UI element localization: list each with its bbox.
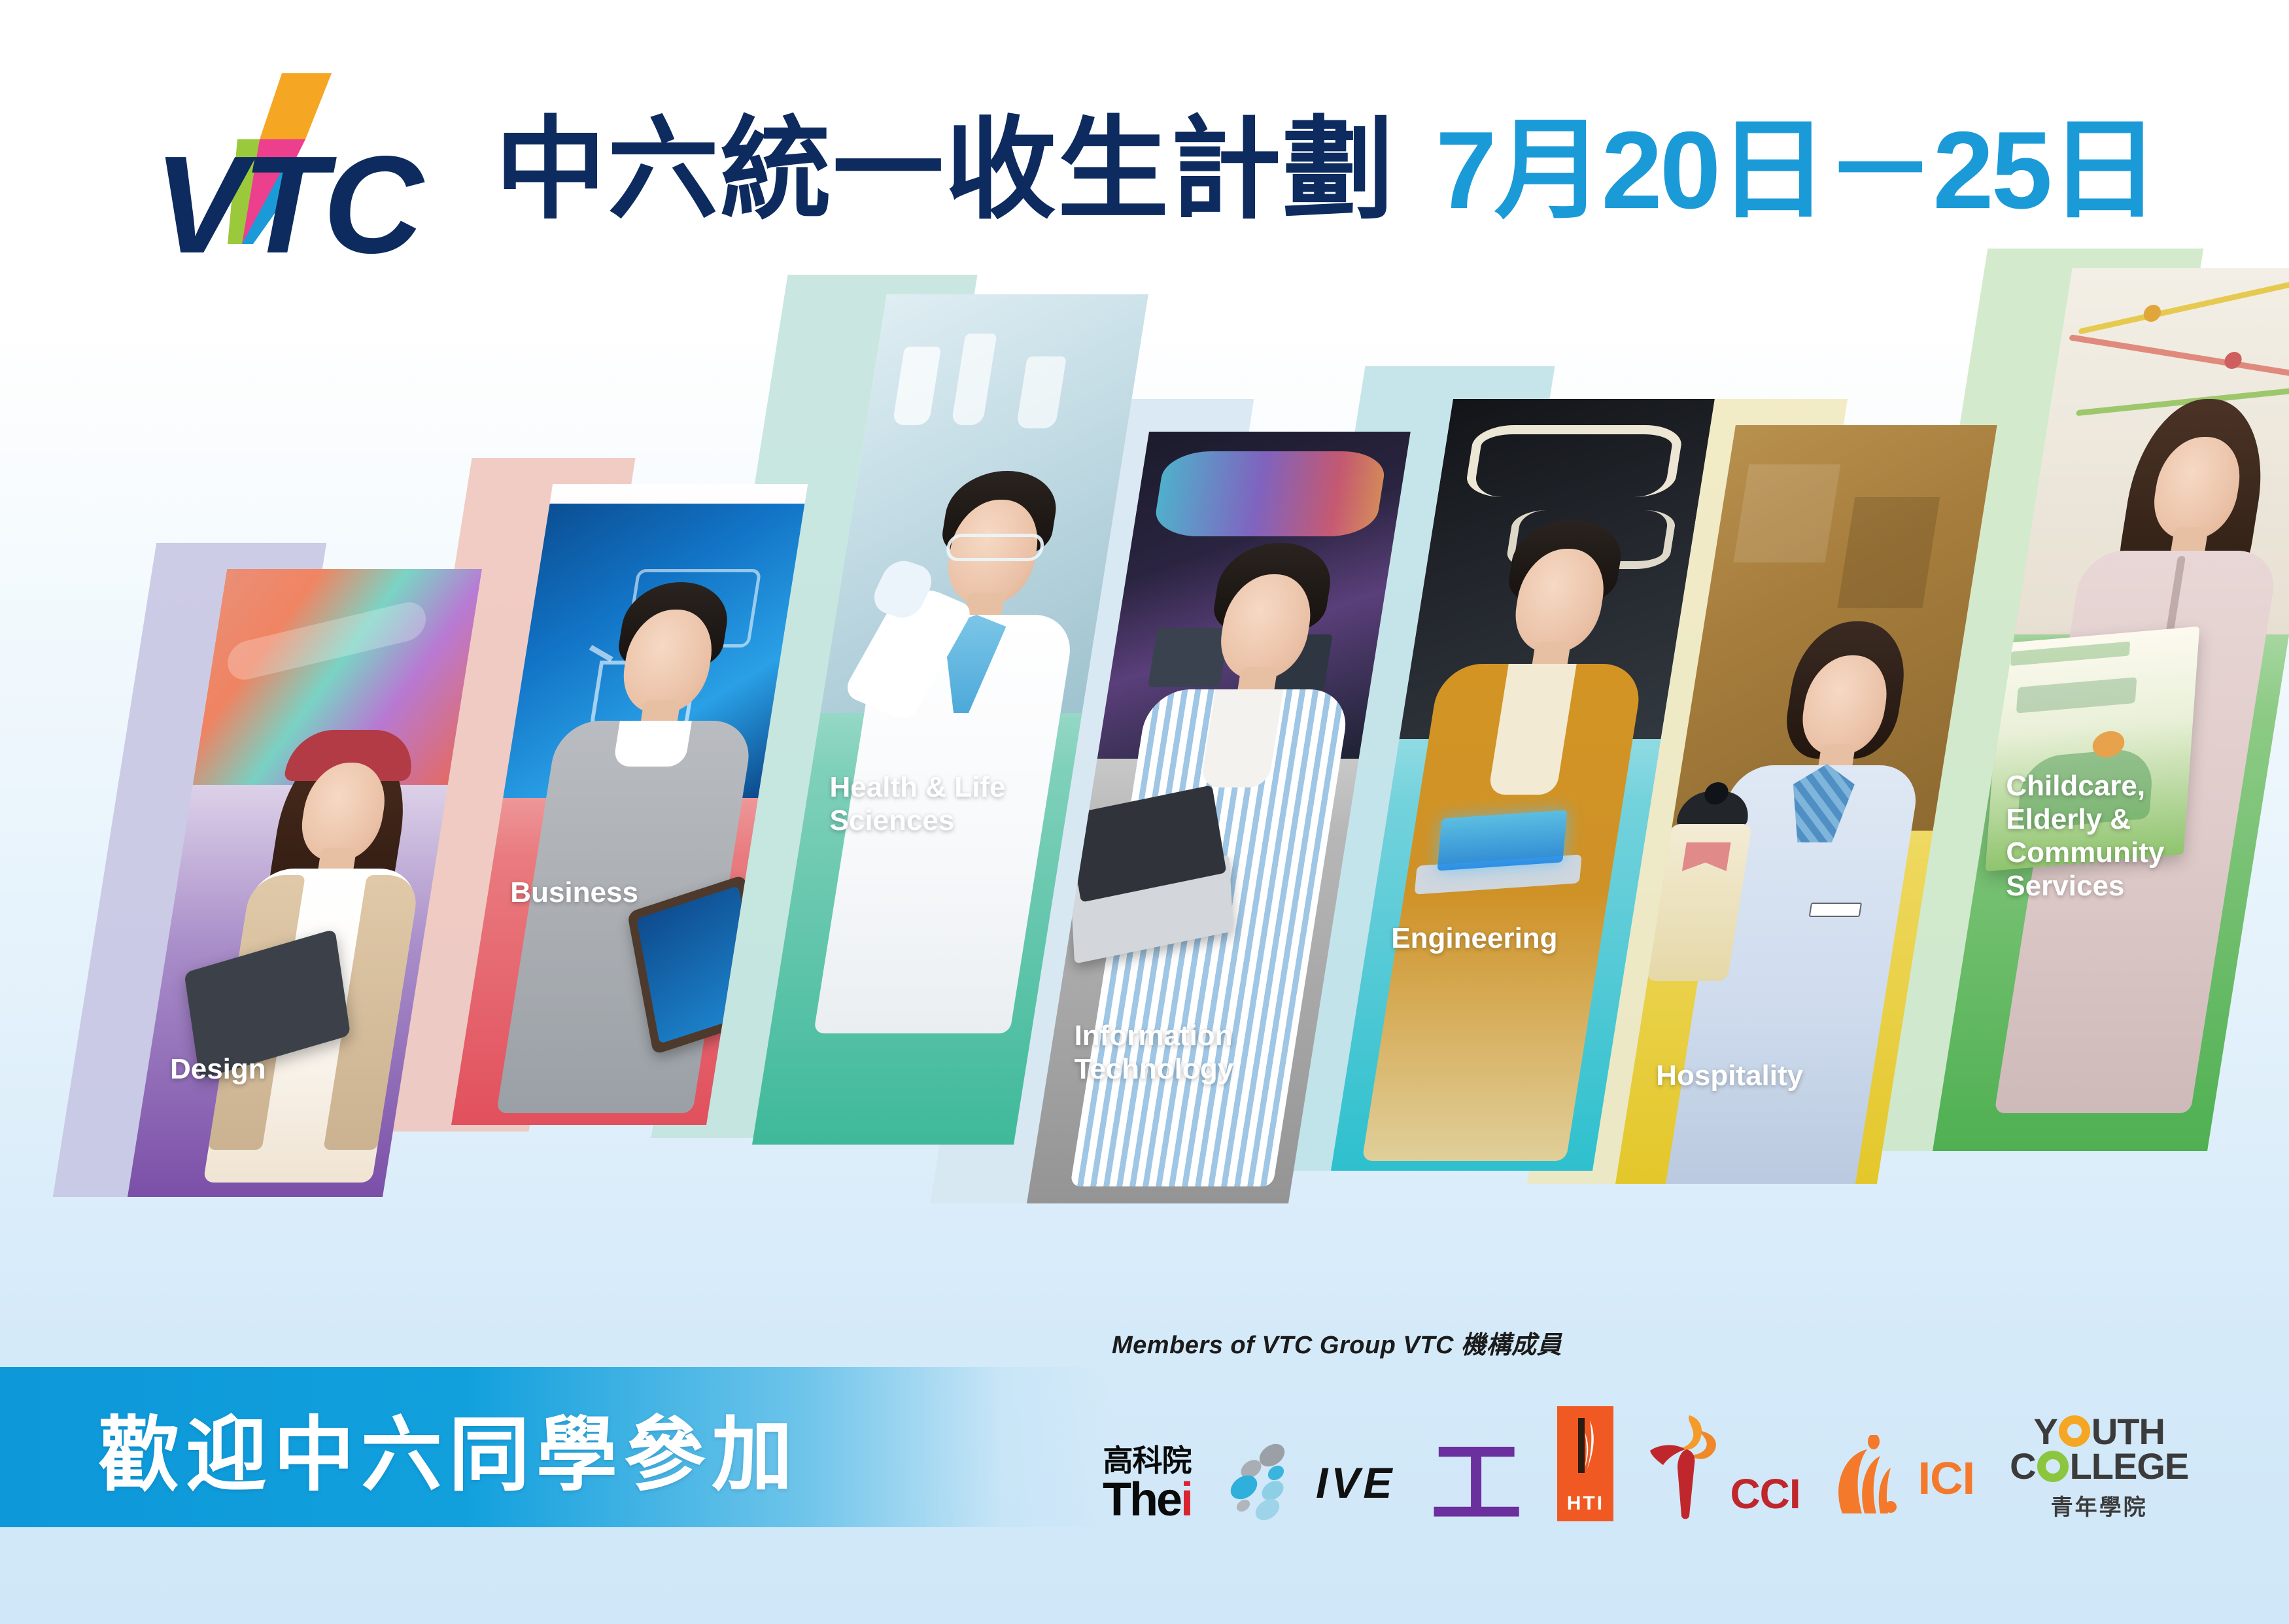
youth-college-o-green bbox=[2037, 1451, 2069, 1482]
discipline-label-design: Design bbox=[170, 1052, 266, 1086]
discipline-label-engineering: Engineering bbox=[1391, 922, 1557, 955]
ive-wordmark: IVE bbox=[1316, 1458, 1395, 1508]
discipline-collage: Design Business bbox=[0, 327, 2289, 1347]
welcome-banner-text: 歡迎中六同學參加 bbox=[98, 1389, 799, 1506]
member-logo-cci[interactable]: CCI bbox=[1649, 1397, 1800, 1521]
page-title-chinese: 中六統一收生計劃 bbox=[495, 114, 1395, 226]
vtc-purple-glyph: 工 bbox=[1430, 1446, 1522, 1521]
discipline-label-business: Business bbox=[510, 876, 638, 909]
member-logo-hti[interactable]: HTI bbox=[1557, 1397, 1613, 1521]
thei-accent-letter: i bbox=[1180, 1474, 1192, 1526]
youth-college-line2: CLLEGE bbox=[2010, 1449, 2188, 1484]
members-caption: Members of VTC Group VTC 機構成員 bbox=[1112, 1324, 2276, 1360]
discipline-label-childcare: Childcare, Elderly & Community Services bbox=[2006, 769, 2164, 903]
members-strip: Members of VTC Group VTC 機構成員 高科院 Thei bbox=[1086, 1324, 2276, 1547]
ive-bubbles-icon bbox=[1227, 1444, 1311, 1521]
thei-word: The bbox=[1103, 1474, 1180, 1526]
ici-waves-icon bbox=[1836, 1435, 1912, 1521]
banner-header: VTC 中六統一收生計劃 7月20日－25日 bbox=[0, 0, 2289, 340]
member-logo-youth-college[interactable]: YUTH CLLEGE 青年學院 bbox=[2010, 1397, 2188, 1521]
youth-college-llege: LLEGE bbox=[2070, 1449, 2189, 1484]
member-logo-vtc-purple[interactable]: 工 bbox=[1430, 1397, 1522, 1521]
member-logo-ici[interactable]: ICI bbox=[1836, 1397, 1974, 1521]
hti-wordmark: HTI bbox=[1567, 1493, 1604, 1515]
vtc-promotional-banner: VTC 中六統一收生計劃 7月20日－25日 bbox=[0, 0, 2289, 1624]
vtc-logo: VTC bbox=[154, 69, 461, 271]
discipline-label-hospitality: Hospitality bbox=[1656, 1059, 1803, 1092]
member-logo-ive[interactable]: IVE bbox=[1227, 1397, 1395, 1521]
discipline-label-it: Information Technology bbox=[1075, 1019, 1234, 1086]
welcome-banner: 歡迎中六同學參加 bbox=[0, 1367, 1112, 1527]
event-date: 7月20日－25日 bbox=[1436, 115, 2157, 225]
vtc-logo-wordmark: VTC bbox=[154, 135, 419, 274]
hti-brush-icon bbox=[1570, 1415, 1600, 1483]
youth-college-c: C bbox=[2010, 1449, 2035, 1484]
youth-college-y: Y bbox=[2033, 1414, 2057, 1449]
hti-badge: HTI bbox=[1557, 1406, 1613, 1521]
cci-figure-icon bbox=[1649, 1411, 1727, 1521]
thei-wordmark: Thei bbox=[1103, 1478, 1192, 1521]
member-logo-thei[interactable]: 高科院 Thei bbox=[1103, 1397, 1192, 1521]
youth-college-chinese-name: 青年學院 bbox=[2051, 1489, 2148, 1521]
cci-wordmark: CCI bbox=[1730, 1473, 1800, 1515]
youth-college-line1: YUTH bbox=[2033, 1414, 2164, 1449]
ici-wordmark: ICI bbox=[1918, 1455, 1974, 1501]
thei-chinese-name: 高科院 bbox=[1103, 1445, 1192, 1476]
discipline-label-health: Health & Life Sciences bbox=[830, 770, 1006, 837]
youth-college-uth: UTH bbox=[2091, 1414, 2165, 1449]
member-logo-row: 高科院 Thei IVE bbox=[1103, 1384, 2276, 1521]
youth-college-o-orange bbox=[2059, 1415, 2090, 1447]
